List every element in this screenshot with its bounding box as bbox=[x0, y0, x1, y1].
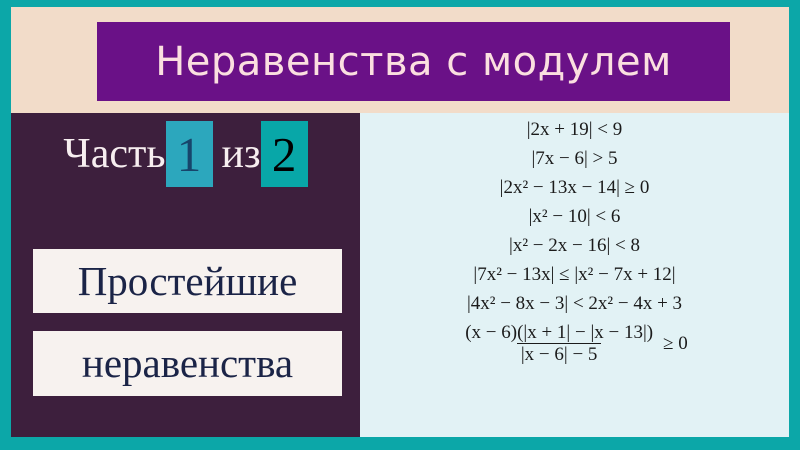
equation-4-text: |x² − 10| < 6 bbox=[529, 207, 621, 226]
page-title: Неравенства с модулем bbox=[155, 42, 672, 82]
equation-6-text: |7x² − 13x| ≤ |x² − 7x + 12| bbox=[473, 265, 675, 284]
equation-3-text: |2x² − 13x − 14| ≥ 0 bbox=[500, 178, 650, 197]
subtitle-text-2: неравенства bbox=[82, 343, 293, 384]
equation-1-text: |2x + 19| < 9 bbox=[527, 120, 623, 139]
equation-8-numerator: (x − 6)(|x + 1| − |x − 13|) bbox=[461, 323, 657, 343]
equation-1: |2x + 19| < 9 bbox=[527, 120, 623, 139]
part-number-current: 1 bbox=[166, 121, 213, 187]
equation-8-denominator: |x − 6| − 5 bbox=[517, 343, 602, 364]
part-word-middle: из bbox=[222, 133, 261, 175]
slide-root: Неравенства с модулем Часть 1 из 2 Прост… bbox=[0, 0, 800, 450]
equation-8-relation: ≥ 0 bbox=[663, 334, 688, 353]
equation-7-text: |4x² − 8x − 3| < 2x² − 4x + 3 bbox=[467, 294, 682, 313]
equation-2-text: |7x − 6| > 5 bbox=[531, 149, 617, 168]
equation-5: |x² − 2x − 16| < 8 bbox=[509, 236, 640, 255]
equation-7: |4x² − 8x − 3| < 2x² − 4x + 3 bbox=[467, 294, 682, 313]
equation-6: |7x² − 13x| ≤ |x² − 7x + 12| bbox=[473, 265, 675, 284]
part-indicator: Часть 1 из 2 bbox=[11, 118, 360, 190]
equation-2: |7x − 6| > 5 bbox=[531, 149, 617, 168]
subtitle-box-2: неравенства bbox=[33, 331, 342, 396]
equation-list: |2x + 19| < 9 |7x − 6| > 5 |2x² − 13x − … bbox=[360, 113, 789, 437]
subtitle-text-1: Простейшие bbox=[78, 261, 298, 302]
subtitle-box-1: Простейшие bbox=[33, 249, 342, 313]
equation-8: (x − 6)(|x + 1| − |x − 13|) |x − 6| − 5 … bbox=[461, 323, 688, 364]
equation-8-fraction: (x − 6)(|x + 1| − |x − 13|) |x − 6| − 5 bbox=[461, 323, 657, 364]
equation-5-text: |x² − 2x − 16| < 8 bbox=[509, 236, 640, 255]
part-word-before: Часть bbox=[63, 133, 165, 175]
title-banner: Неравенства с модулем bbox=[97, 22, 730, 101]
part-number-total: 2 bbox=[261, 121, 308, 187]
equation-3: |2x² − 13x − 14| ≥ 0 bbox=[500, 178, 650, 197]
equation-4: |x² − 10| < 6 bbox=[529, 207, 621, 226]
